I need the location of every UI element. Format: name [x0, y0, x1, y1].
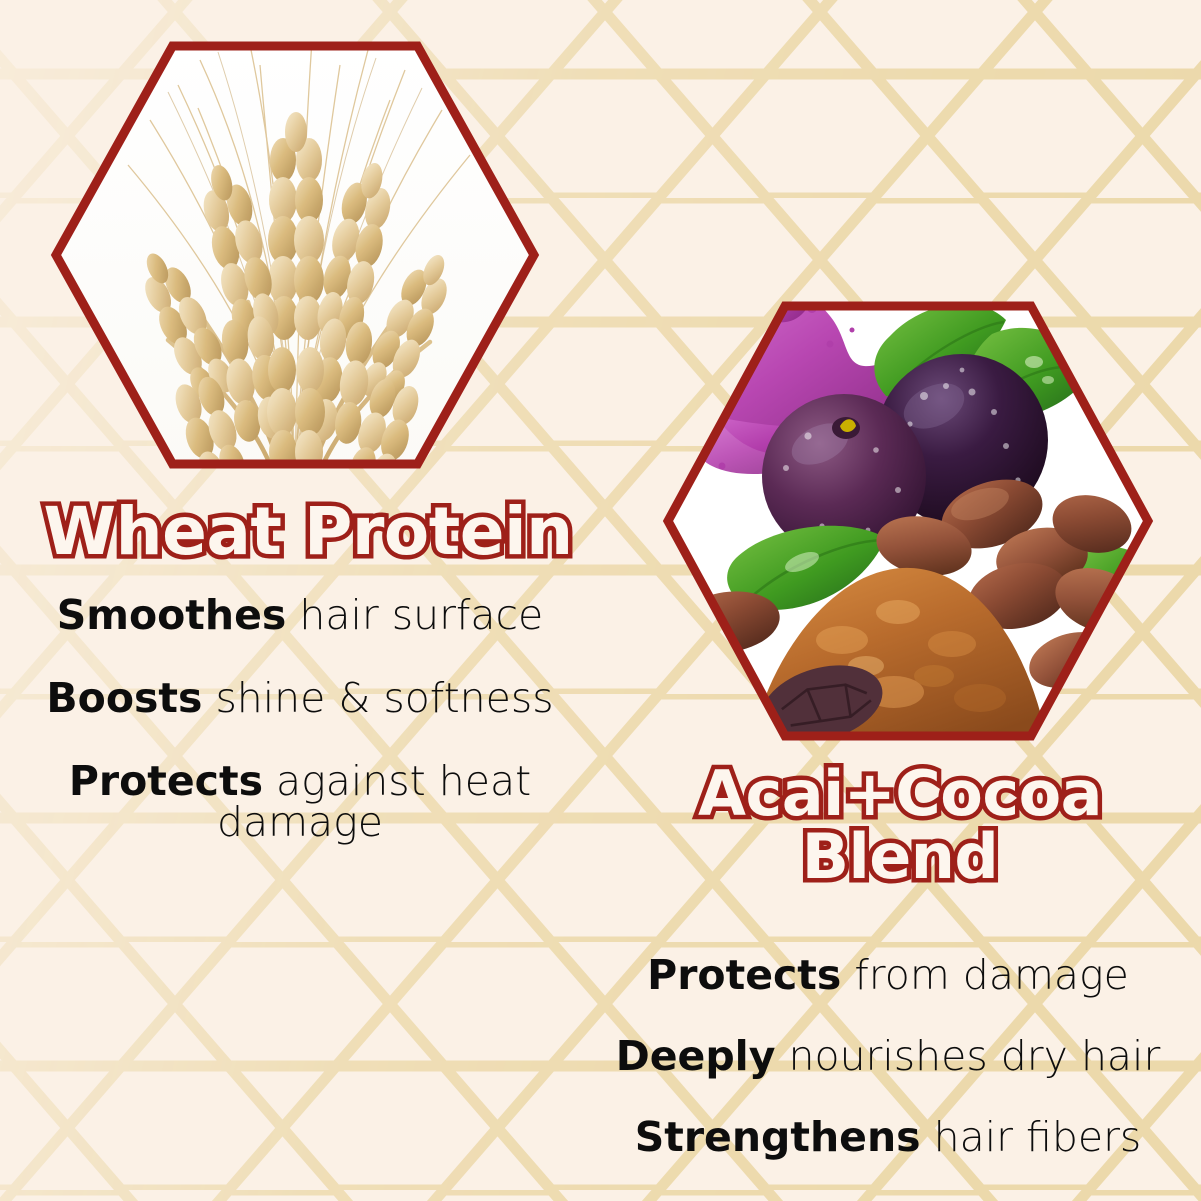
wheat-photo-content [50, 40, 540, 494]
benefit-lead: Strengthens [635, 1113, 921, 1161]
benefit-rest: against heat damage [217, 757, 531, 846]
wheat-protein-benefits-list: Smoothes hair surface Boosts shine & sof… [0, 595, 600, 885]
benefit-item: Protects from damage [575, 955, 1201, 996]
benefit-lead: Smoothes [57, 591, 287, 639]
benefit-rest: shine & softness [202, 674, 553, 722]
benefit-item: Deeply nourishes dry hair [575, 1036, 1201, 1077]
wheat-protein-hex-photo [50, 40, 540, 490]
benefit-item: Strengthens hair fibers [575, 1117, 1201, 1158]
benefit-lead: Deeply [616, 1032, 776, 1080]
benefit-item: Smoothes hair surface [0, 595, 600, 636]
acai-cocoa-photo-content [662, 257, 1158, 762]
benefit-rest: hair surface [286, 591, 543, 639]
benefit-rest: hair fibers [921, 1113, 1142, 1161]
ingredient-benefits-infographic: Wheat Protein Smoothes hair surface Boos… [0, 0, 1201, 1201]
acai-cocoa-hex-photo [662, 300, 1154, 762]
benefit-lead: Boosts [46, 674, 202, 722]
acai-cocoa-benefits-list: Protects from damage Deeply nourishes dr… [575, 955, 1201, 1198]
benefit-rest: nourishes dry hair [775, 1032, 1160, 1080]
benefit-rest: from damage [841, 951, 1129, 999]
acai-cocoa-blend-title: Acai+Cocoa Blend [610, 762, 1190, 888]
benefit-item: Protects against heat damage [0, 761, 600, 843]
benefit-lead: Protects [647, 951, 841, 999]
benefit-item: Boosts shine & softness [0, 678, 600, 719]
wheat-protein-title: Wheat Protein [18, 498, 598, 565]
